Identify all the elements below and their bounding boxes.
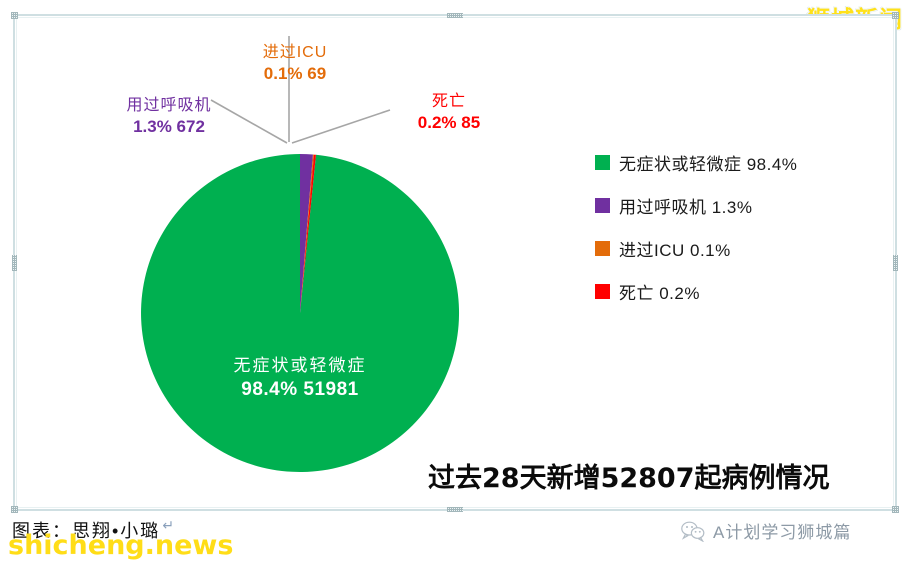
legend-swatch-icon	[595, 284, 610, 299]
chart-title: 过去28天新增52807起病例情况	[428, 456, 830, 495]
pie-svg	[140, 153, 460, 473]
resize-handle-left-icon[interactable]	[12, 255, 17, 271]
pie-callout-ventilator: 用过呼吸机 1.3% 672	[103, 96, 235, 138]
pie-callout-ventilator-value: 1.3% 672	[103, 116, 235, 138]
resize-handle-top-left-icon[interactable]	[11, 12, 18, 19]
resize-handle-bottom-icon[interactable]	[447, 507, 463, 512]
legend-swatch-icon	[595, 241, 610, 256]
resize-handle-bottom-left-icon[interactable]	[11, 506, 18, 513]
site-watermark: shicheng.news	[8, 530, 233, 561]
legend-item-death[interactable]: 死亡 0.2%	[595, 270, 797, 313]
legend-item-label: 无症状或轻微症 98.4%	[619, 150, 797, 175]
legend-item-label: 用过呼吸机 1.3%	[619, 193, 752, 218]
pie-callout-icu-name: 进过ICU	[243, 43, 347, 63]
pie-callout-death: 死亡 0.2% 85	[397, 92, 501, 134]
resize-handle-top-icon[interactable]	[447, 13, 463, 18]
legend-item-label: 进过ICU 0.1%	[619, 236, 731, 261]
chart-object-frame[interactable]: 无症状或轻微症 98.4% 51981 进过ICU 0.1% 69 用过呼吸机 …	[13, 14, 897, 511]
screenshot-root: 狮城新闻	[0, 0, 911, 567]
pie-chart[interactable]: 无症状或轻微症 98.4% 51981	[140, 153, 460, 473]
pie-callout-ventilator-name: 用过呼吸机	[103, 96, 235, 116]
legend-item-label: 死亡 0.2%	[619, 279, 700, 304]
pie-callout-death-value: 0.2% 85	[397, 112, 501, 134]
pie-callout-icu-value: 0.1% 69	[243, 63, 347, 85]
resize-handle-right-icon[interactable]	[893, 255, 898, 271]
legend-swatch-icon	[595, 198, 610, 213]
wechat-account-name: A计划学习狮城篇	[713, 518, 851, 543]
wechat-icon	[680, 520, 706, 542]
wechat-credit: A计划学习狮城篇	[680, 518, 851, 543]
chart-legend[interactable]: 无症状或轻微症 98.4% 用过呼吸机 1.3% 进过ICU 0.1% 死亡 0…	[595, 141, 797, 313]
pie-callout-death-name: 死亡	[397, 92, 501, 112]
resize-handle-bottom-right-icon[interactable]	[892, 506, 899, 513]
legend-item-mild[interactable]: 无症状或轻微症 98.4%	[595, 141, 797, 184]
resize-handle-top-right-icon[interactable]	[892, 12, 899, 19]
legend-item-icu[interactable]: 进过ICU 0.1%	[595, 227, 797, 270]
legend-swatch-icon	[595, 155, 610, 170]
legend-item-ventilator[interactable]: 用过呼吸机 1.3%	[595, 184, 797, 227]
pie-callout-icu: 进过ICU 0.1% 69	[243, 43, 347, 85]
